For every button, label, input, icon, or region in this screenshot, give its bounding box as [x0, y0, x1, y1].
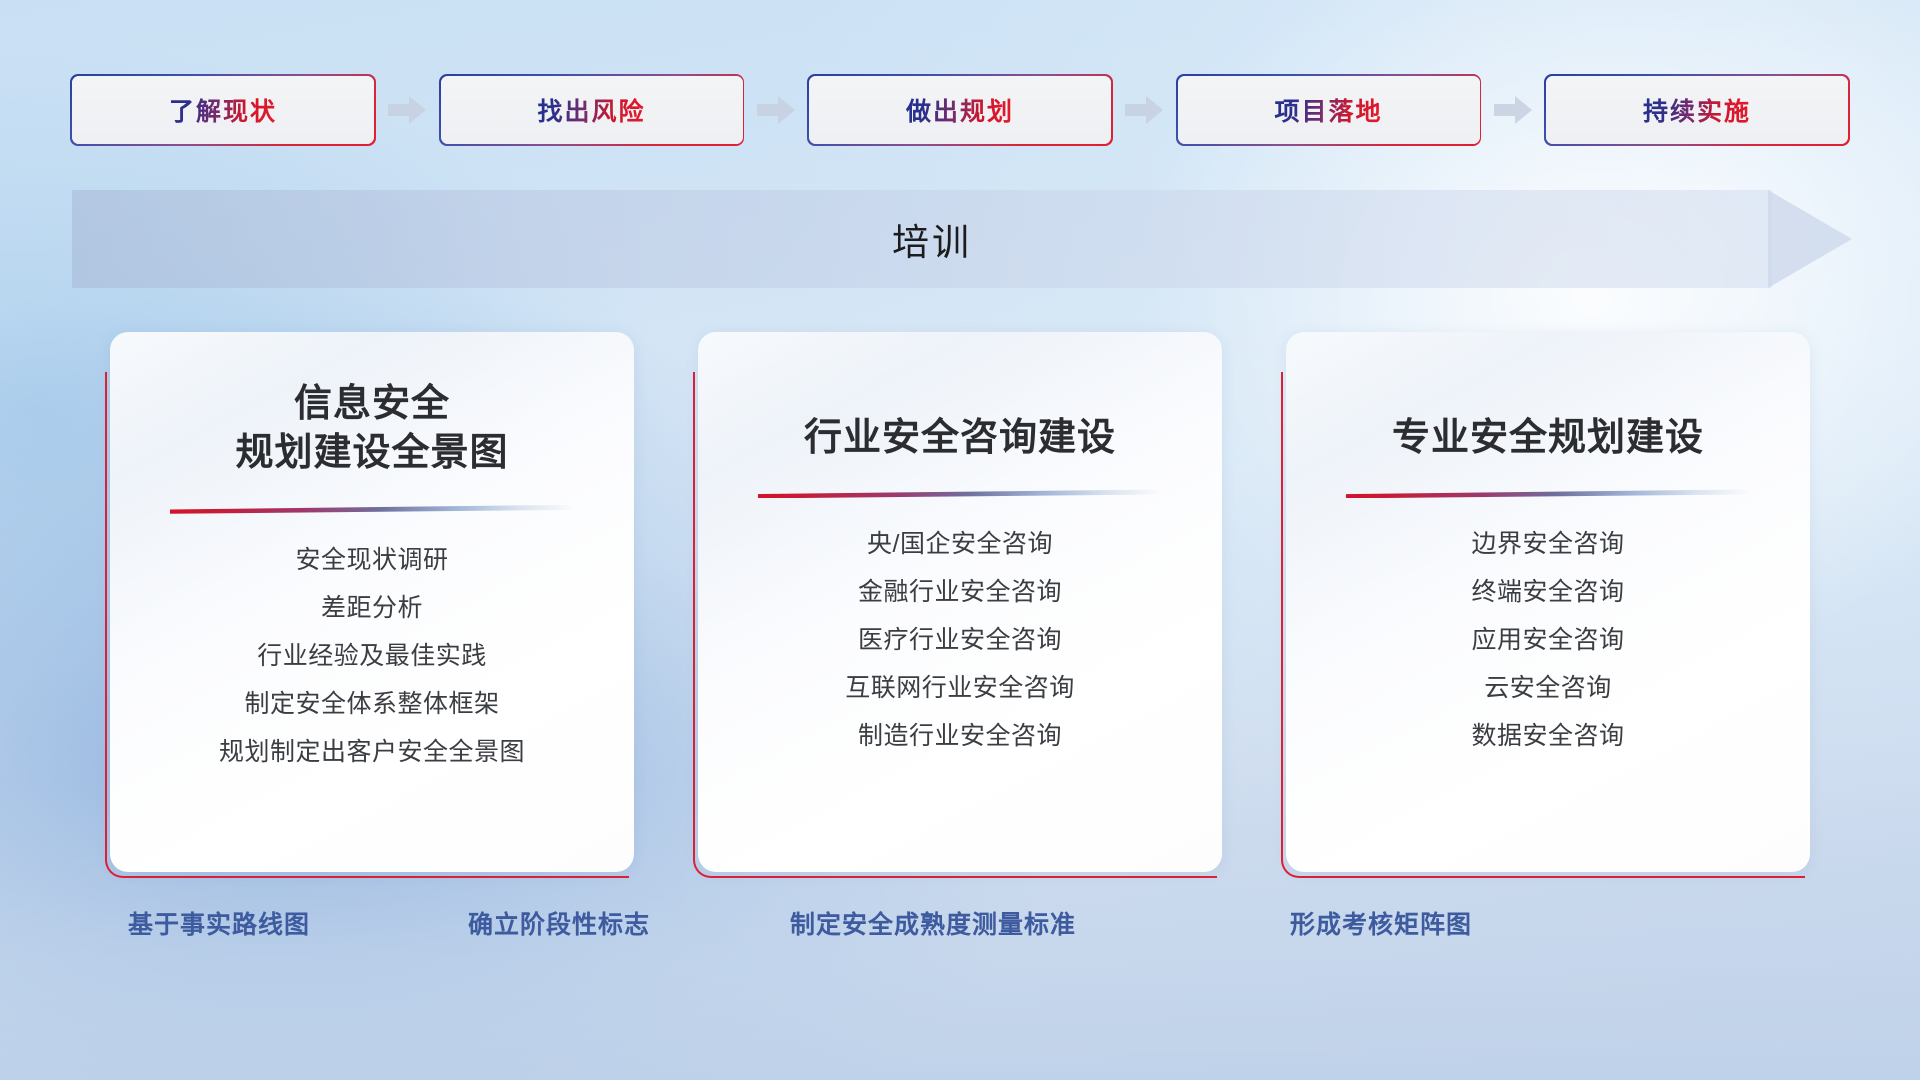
list-item: 数据安全咨询 [1471, 724, 1624, 749]
card-3[interactable]: 专业安全规划建设边界安全咨询终端安全咨询应用安全咨询云安全咨询数据安全咨询 [1286, 332, 1810, 872]
card-divider [1346, 489, 1751, 498]
footer-notes: 基于事实路线图确立阶段性标志制定安全成熟度测量标准形成考核矩阵图 [0, 905, 1920, 951]
step-label: 了解现状 [169, 92, 277, 128]
card-title: 信息安全 规划建设全景图 [235, 378, 508, 479]
list-item: 差距分析 [219, 596, 525, 621]
step-button-2[interactable]: 找出风险 [441, 76, 743, 144]
list-item: 安全现状调研 [219, 548, 525, 573]
card-2[interactable]: 行业安全咨询建设央/国企安全咨询金融行业安全咨询医疗行业安全咨询互联网行业安全咨… [698, 332, 1222, 872]
card-group: 信息安全 规划建设全景图安全现状调研差距分析行业经验及最佳实践制定安全体系整体框… [110, 332, 1810, 872]
list-item: 制造行业安全咨询 [845, 724, 1075, 749]
arrow-right-icon [1125, 95, 1163, 125]
step-button-5[interactable]: 持续实施 [1546, 76, 1848, 144]
list-item: 央/国企安全咨询 [845, 532, 1075, 557]
list-item: 医疗行业安全咨询 [845, 628, 1075, 653]
banner-label: 培训 [72, 190, 1852, 288]
list-item: 行业经验及最佳实践 [219, 644, 525, 669]
training-banner: 培训 [72, 190, 1852, 288]
step-label: 做出规划 [906, 92, 1014, 128]
card-item-list: 边界安全咨询终端安全咨询应用安全咨询云安全咨询数据安全咨询 [1471, 532, 1624, 749]
arrow-right-icon [388, 95, 426, 125]
process-steps: 了解现状找出风险做出规划项目落地持续实施 [72, 76, 1848, 144]
card-item-list: 安全现状调研差距分析行业经验及最佳实践制定安全体系整体框架规划制定出客户安全全景… [219, 548, 525, 765]
step-label: 项目落地 [1274, 92, 1382, 128]
footer-note-4: 形成考核矩阵图 [1290, 905, 1472, 941]
step-button-1[interactable]: 了解现状 [72, 76, 374, 144]
step-button-3[interactable]: 做出规划 [809, 76, 1111, 144]
footer-note-3: 制定安全成熟度测量标准 [790, 905, 1076, 941]
card-divider [758, 489, 1163, 498]
arrow-right-icon [757, 95, 795, 125]
step-label: 找出风险 [537, 92, 645, 128]
card-item-list: 央/国企安全咨询金融行业安全咨询医疗行业安全咨询互联网行业安全咨询制造行业安全咨… [845, 532, 1075, 749]
list-item: 制定安全体系整体框架 [219, 692, 525, 717]
step-button-4[interactable]: 项目落地 [1178, 76, 1480, 144]
card-title: 行业安全咨询建设 [804, 378, 1116, 463]
card-divider [170, 505, 575, 514]
list-item: 云安全咨询 [1471, 676, 1624, 701]
footer-note-2: 确立阶段性标志 [468, 905, 650, 941]
list-item: 应用安全咨询 [1471, 628, 1624, 653]
card-1[interactable]: 信息安全 规划建设全景图安全现状调研差距分析行业经验及最佳实践制定安全体系整体框… [110, 332, 634, 872]
list-item: 互联网行业安全咨询 [845, 676, 1075, 701]
list-item: 规划制定出客户安全全景图 [219, 740, 525, 765]
list-item: 边界安全咨询 [1471, 532, 1624, 557]
list-item: 金融行业安全咨询 [845, 580, 1075, 605]
arrow-right-icon [1494, 95, 1532, 125]
step-label: 持续实施 [1643, 92, 1751, 128]
footer-note-1: 基于事实路线图 [128, 905, 310, 941]
card-title: 专业安全规划建设 [1392, 378, 1704, 463]
list-item: 终端安全咨询 [1471, 580, 1624, 605]
